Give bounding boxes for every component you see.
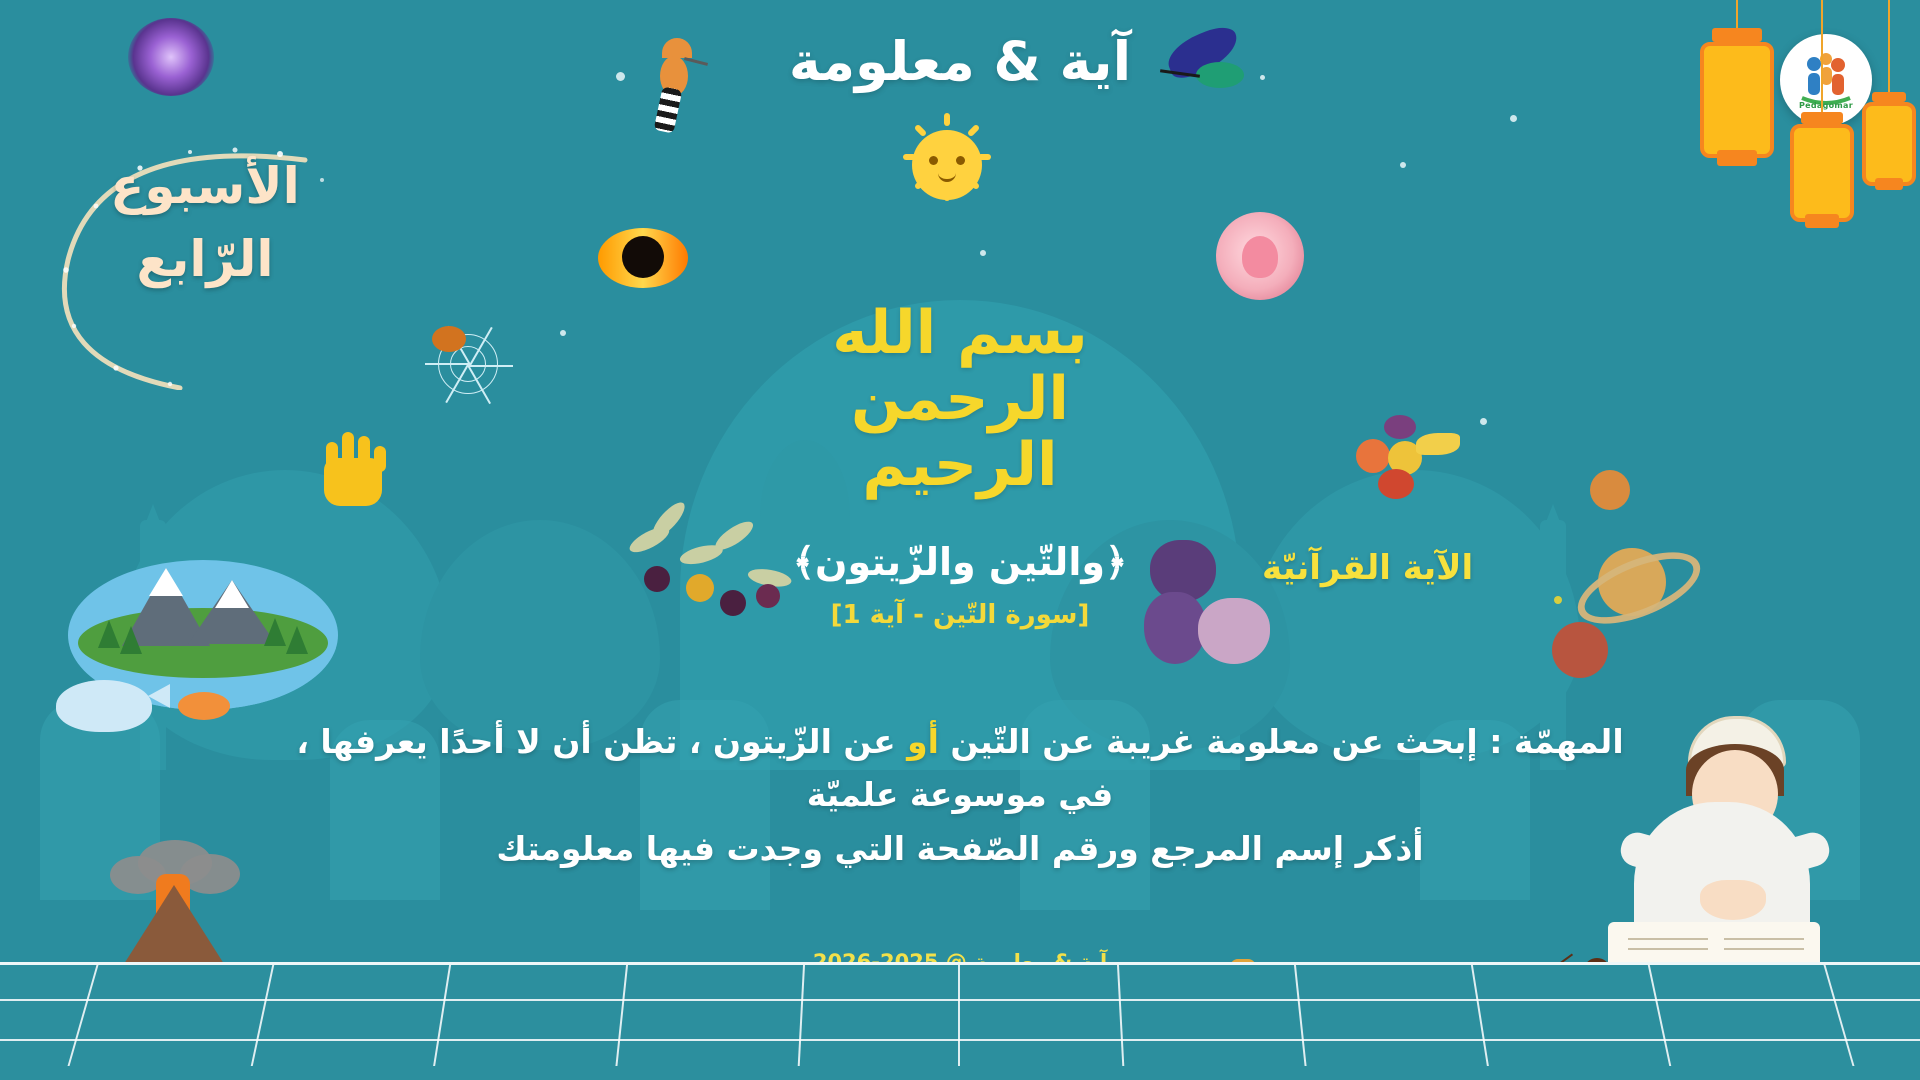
black-hole-illustration (598, 228, 688, 288)
task-line-3: أذكر إسم المرجع ورقم الصّفحة التي وجدت ف… (0, 822, 1920, 875)
floor-grid (0, 962, 1920, 1080)
star-dot (1554, 596, 1562, 604)
task-line1-part-b: عن الزّيتون ، تظن أن لا أحدًا يعرفها ، (296, 722, 907, 761)
floor-base-strip (0, 1066, 1920, 1080)
week-label-line2: الرّابع (40, 223, 370, 296)
page-title: آية & معلومة (0, 30, 1920, 93)
basmala-calligraphy: بسم الله الرحمن الرحيم (750, 300, 1170, 498)
small-planet-illustration (1590, 470, 1630, 510)
lantern-small-right (1862, 0, 1916, 210)
week-badge: الأسبوع الرّابع (40, 120, 370, 360)
task-text-block: المهمّة : إبحث عن معلومة غريبة عن التّين… (0, 715, 1920, 875)
sun-illustration (912, 130, 982, 200)
star-dot (1400, 162, 1406, 168)
quran-ayah-label: الآية القرآنيّة (1262, 548, 1473, 588)
lantern-medium-center (1790, 0, 1854, 250)
mars-planet-illustration (1552, 622, 1608, 678)
yellow-hand-illustration (318, 428, 390, 506)
week-label-line1: الأسبوع (40, 150, 370, 223)
star-dot (560, 330, 566, 336)
task-line-2: في موسوعة علميّة (0, 768, 1920, 821)
hoopoe-bird-illustration (650, 30, 706, 130)
slide-canvas: آية & معلومة Pedagomar (0, 0, 1920, 1080)
star-dot (1510, 115, 1517, 122)
task-line-1: المهمّة : إبحث عن معلومة غريبة عن التّين… (0, 715, 1920, 768)
star-dot (980, 250, 986, 256)
fruits-basket-illustration (1354, 415, 1464, 505)
lantern-large-left (1700, 0, 1774, 190)
hummingbird-illustration (1160, 32, 1266, 106)
task-line1-highlight: أو (907, 722, 939, 761)
star-dot (1480, 418, 1487, 425)
galaxy-illustration (128, 18, 214, 96)
week-badge-text: الأسبوع الرّابع (40, 150, 370, 295)
spider-illustration (432, 326, 466, 352)
task-line1-part-a: المهمّة : إبحث عن معلومة غريبة عن التّين (939, 722, 1624, 761)
quran-ayah-text: ﴿والتّين والزّيتون﴾ (650, 540, 1270, 584)
quran-ayah-source: [سورة التّين - آية 1] (650, 600, 1270, 630)
embryo-illustration (1216, 212, 1304, 300)
